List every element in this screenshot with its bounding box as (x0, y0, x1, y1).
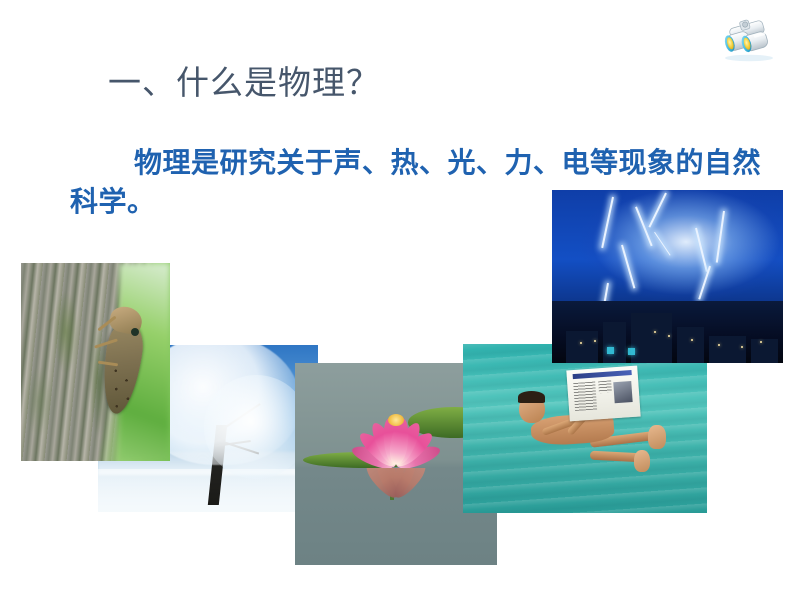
building (677, 327, 705, 363)
street-light (654, 331, 656, 333)
photo-dead-sea-float (463, 344, 707, 513)
newspaper-masthead (572, 369, 632, 379)
swimmer-foot (634, 450, 650, 472)
building (631, 313, 673, 363)
snow-ground (98, 469, 318, 512)
building (709, 336, 746, 363)
city-skyline (552, 301, 783, 363)
newspaper-text-column (573, 381, 597, 410)
newspaper (566, 365, 640, 420)
building (566, 331, 598, 363)
building (603, 322, 626, 363)
street-light (760, 341, 762, 343)
street-light (691, 339, 693, 341)
newspaper-photo (613, 381, 633, 404)
frost-canopy-right (204, 375, 310, 479)
building (751, 339, 779, 363)
lightning-bolt (621, 245, 635, 289)
lightning-bolt (698, 266, 710, 299)
street-light (668, 335, 670, 337)
newspaper-text-column (598, 380, 612, 393)
presentation-slide: 一、什么是物理？ 物理是研究关于声、热、光、力、电等现象的自然科学。 (0, 0, 800, 600)
photo-lightning-storm (552, 190, 783, 363)
swimmer-foot (648, 425, 665, 449)
lightning-bolt (654, 231, 671, 255)
swimmer-hair (518, 391, 545, 403)
street-light (594, 340, 596, 342)
lightning-bolt (716, 211, 725, 263)
lotus-center (388, 414, 404, 426)
bark-moss-texture (21, 263, 170, 461)
window-glow (607, 347, 614, 354)
photo-cicada (21, 263, 170, 461)
lightning-bolt (601, 197, 614, 248)
binoculars-svg (718, 14, 780, 62)
lightning-bolt (695, 228, 708, 272)
lightning-bolt (649, 193, 667, 228)
page-title: 一、什么是物理？ (108, 62, 380, 104)
binoculars-icon (718, 14, 780, 62)
window-glow (628, 348, 635, 355)
